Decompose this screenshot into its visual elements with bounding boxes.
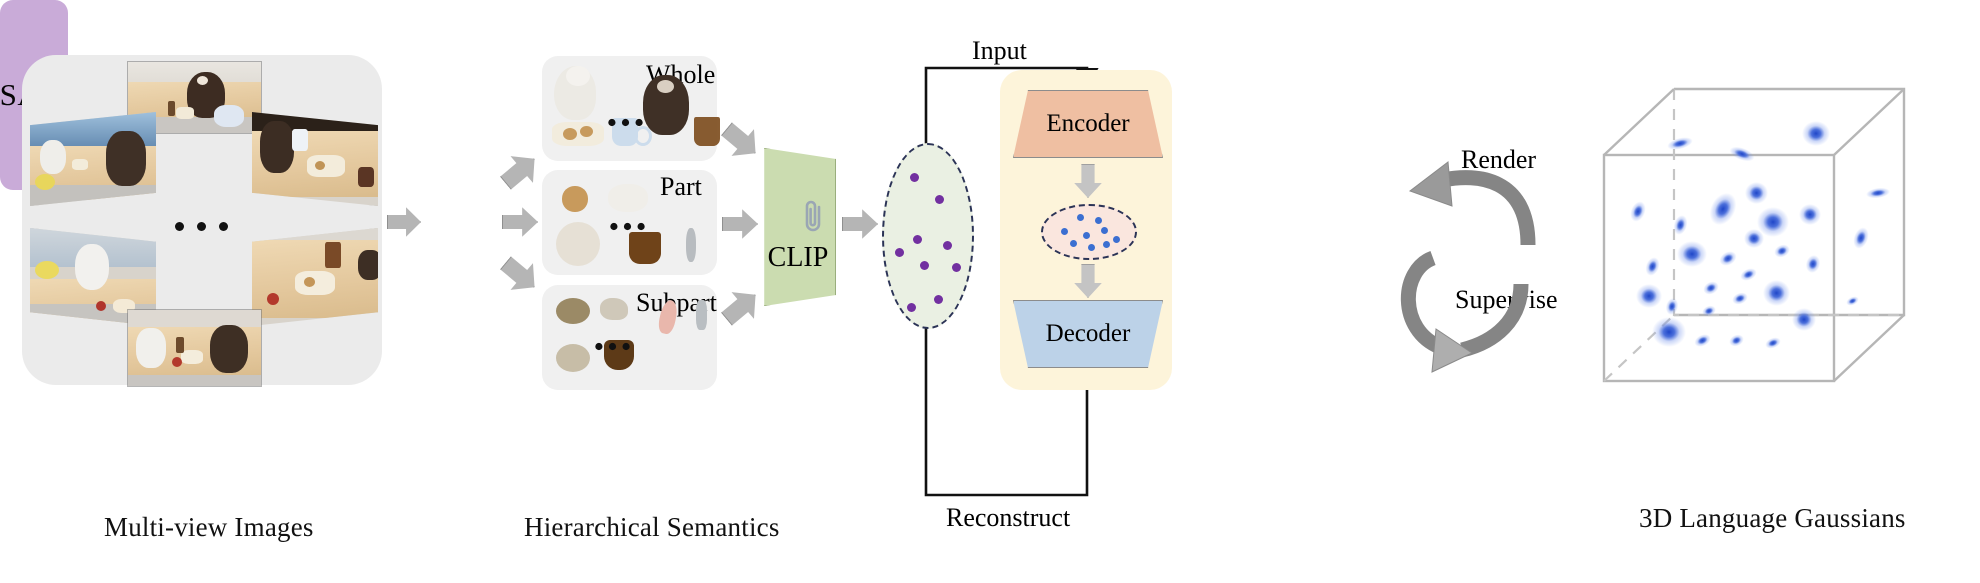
- clip-shape: [762, 148, 836, 306]
- render-label: Render: [1461, 145, 1536, 175]
- gaussian-splat: [1763, 280, 1790, 306]
- gaussian-splat: [1851, 225, 1872, 250]
- caption-multi-view-images: Multi-view Images: [104, 512, 314, 543]
- semantic-label-part: Part: [660, 172, 702, 202]
- latent-point: [1113, 236, 1120, 243]
- seg-part-sheep-body: [556, 222, 600, 266]
- multi-view-ellipsis: [175, 222, 228, 231]
- semantic-ellipsis-whole: [608, 119, 642, 126]
- gaussian-splat: [1704, 189, 1741, 230]
- seg-part-spoon: [686, 228, 696, 262]
- latent-point: [1083, 232, 1090, 239]
- latent-point: [1088, 244, 1095, 251]
- gaussian-splat: [1693, 332, 1713, 349]
- input-label: Input: [972, 36, 1027, 66]
- gaussian-splat: [1652, 317, 1686, 347]
- seg-whole-glass: [694, 117, 720, 146]
- encoder-block[interactable]: Encoder: [1013, 90, 1163, 158]
- gaussian-splat: [1745, 182, 1768, 204]
- semantic-ellipsis-subpart: [595, 343, 629, 350]
- gaussian-splat: [1865, 187, 1890, 200]
- latent-point: [1061, 228, 1068, 235]
- lang-point: [952, 263, 961, 272]
- seg-whole-sheep-head: [566, 66, 590, 86]
- lang-point: [943, 241, 952, 250]
- gaussian-splat: [1744, 229, 1764, 248]
- gaussian-splat: [1628, 199, 1649, 224]
- gaussian-splat: [1664, 296, 1680, 315]
- gaussian-splat: [1799, 204, 1821, 225]
- seg-part-cookie: [562, 186, 588, 212]
- seg-whole-bear-face: [657, 80, 674, 93]
- latent-point: [1077, 214, 1084, 221]
- arrow-whole-to-clip: [714, 114, 768, 168]
- arrow-subpart-to-clip: [714, 280, 768, 334]
- language-embedding-space: [882, 143, 974, 329]
- gaussian-splat: [1677, 241, 1707, 267]
- decoder-block[interactable]: Decoder: [1013, 300, 1163, 368]
- encoder-label: Encoder: [1046, 110, 1129, 138]
- gaussian-splat: [1772, 242, 1792, 260]
- multi-view-photo-left-upper: [30, 112, 156, 206]
- seg-subpart-blob-c: [556, 344, 590, 372]
- latent-point: [1103, 241, 1110, 248]
- caption-3d-language-gaussians: 3D Language Gaussians: [1639, 503, 1906, 534]
- gaussian-splat: [1802, 121, 1830, 146]
- seg-subpart-blob-a: [556, 298, 590, 324]
- supervise-arrow: [1408, 258, 1521, 372]
- gaussian-splat: [1728, 144, 1757, 164]
- seg-subpart-blob-b: [600, 298, 628, 320]
- gaussian-splat: [1730, 290, 1749, 306]
- seg-whole-cookie-a: [563, 128, 577, 140]
- multi-view-photo-bottom: [128, 310, 261, 386]
- gaussian-splat: [1643, 256, 1662, 278]
- supervise-label: Supervise: [1455, 285, 1558, 315]
- clip-block[interactable]: CLIP: [762, 148, 834, 304]
- compressed-latent-space: [1041, 204, 1137, 260]
- gaussian-splat: [1738, 266, 1758, 283]
- arrow-sam-to-part: [502, 206, 538, 238]
- gaussian-splat: [1702, 279, 1722, 297]
- lang-point: [920, 261, 929, 270]
- multi-view-photo-right-upper: [252, 112, 378, 206]
- seg-whole-mug-handle: [634, 126, 652, 146]
- seg-subpart-handle: [696, 300, 707, 330]
- arrow-part-to-clip: [722, 208, 758, 240]
- gaussian-splat: [1804, 254, 1822, 275]
- gaussian-splat: [1845, 295, 1860, 308]
- gaussian-splat: [1671, 213, 1689, 236]
- decoder-label: Decoder: [1046, 320, 1131, 348]
- lang-point: [913, 235, 922, 244]
- arrow-images-to-sam: [387, 206, 421, 238]
- figure-canvas: Multi-view Images SAM Whole: [0, 0, 1980, 583]
- arrow-sam-to-subpart: [493, 248, 547, 302]
- gaussian-splat: [1700, 304, 1717, 319]
- seg-part-sheep-head: [608, 184, 648, 212]
- semantic-ellipsis-part: [610, 223, 644, 230]
- gaussian-splat: [1717, 249, 1739, 269]
- reconstruct-label: Reconstruct: [946, 503, 1070, 533]
- gaussian-splat: [1666, 135, 1694, 152]
- clip-label: CLIP: [762, 242, 834, 274]
- lang-point: [907, 303, 916, 312]
- latent-point: [1095, 217, 1102, 224]
- gaussian-splat: [1728, 332, 1746, 348]
- latent-point: [1101, 227, 1108, 234]
- arrow-clip-to-langfield: [842, 208, 878, 240]
- gaussian-splat: [1636, 284, 1662, 308]
- multi-view-photo-right-lower: [252, 228, 378, 326]
- arrow-sam-to-whole: [493, 144, 547, 198]
- seg-part-cup: [629, 232, 661, 264]
- gaussian-splat: [1792, 308, 1816, 331]
- gaussian-splat: [1764, 335, 1783, 350]
- lang-point: [934, 295, 943, 304]
- lang-point: [895, 248, 904, 257]
- caption-hierarchical-semantics: Hierarchical Semantics: [524, 512, 780, 543]
- lang-point: [910, 173, 919, 182]
- seg-whole-plate: [552, 122, 604, 146]
- latent-point: [1070, 240, 1077, 247]
- gaussian-splats: [1600, 85, 1930, 385]
- seg-whole-cookie-b: [580, 126, 593, 137]
- lang-point: [935, 195, 944, 204]
- gaussian-cube: [1600, 85, 1930, 385]
